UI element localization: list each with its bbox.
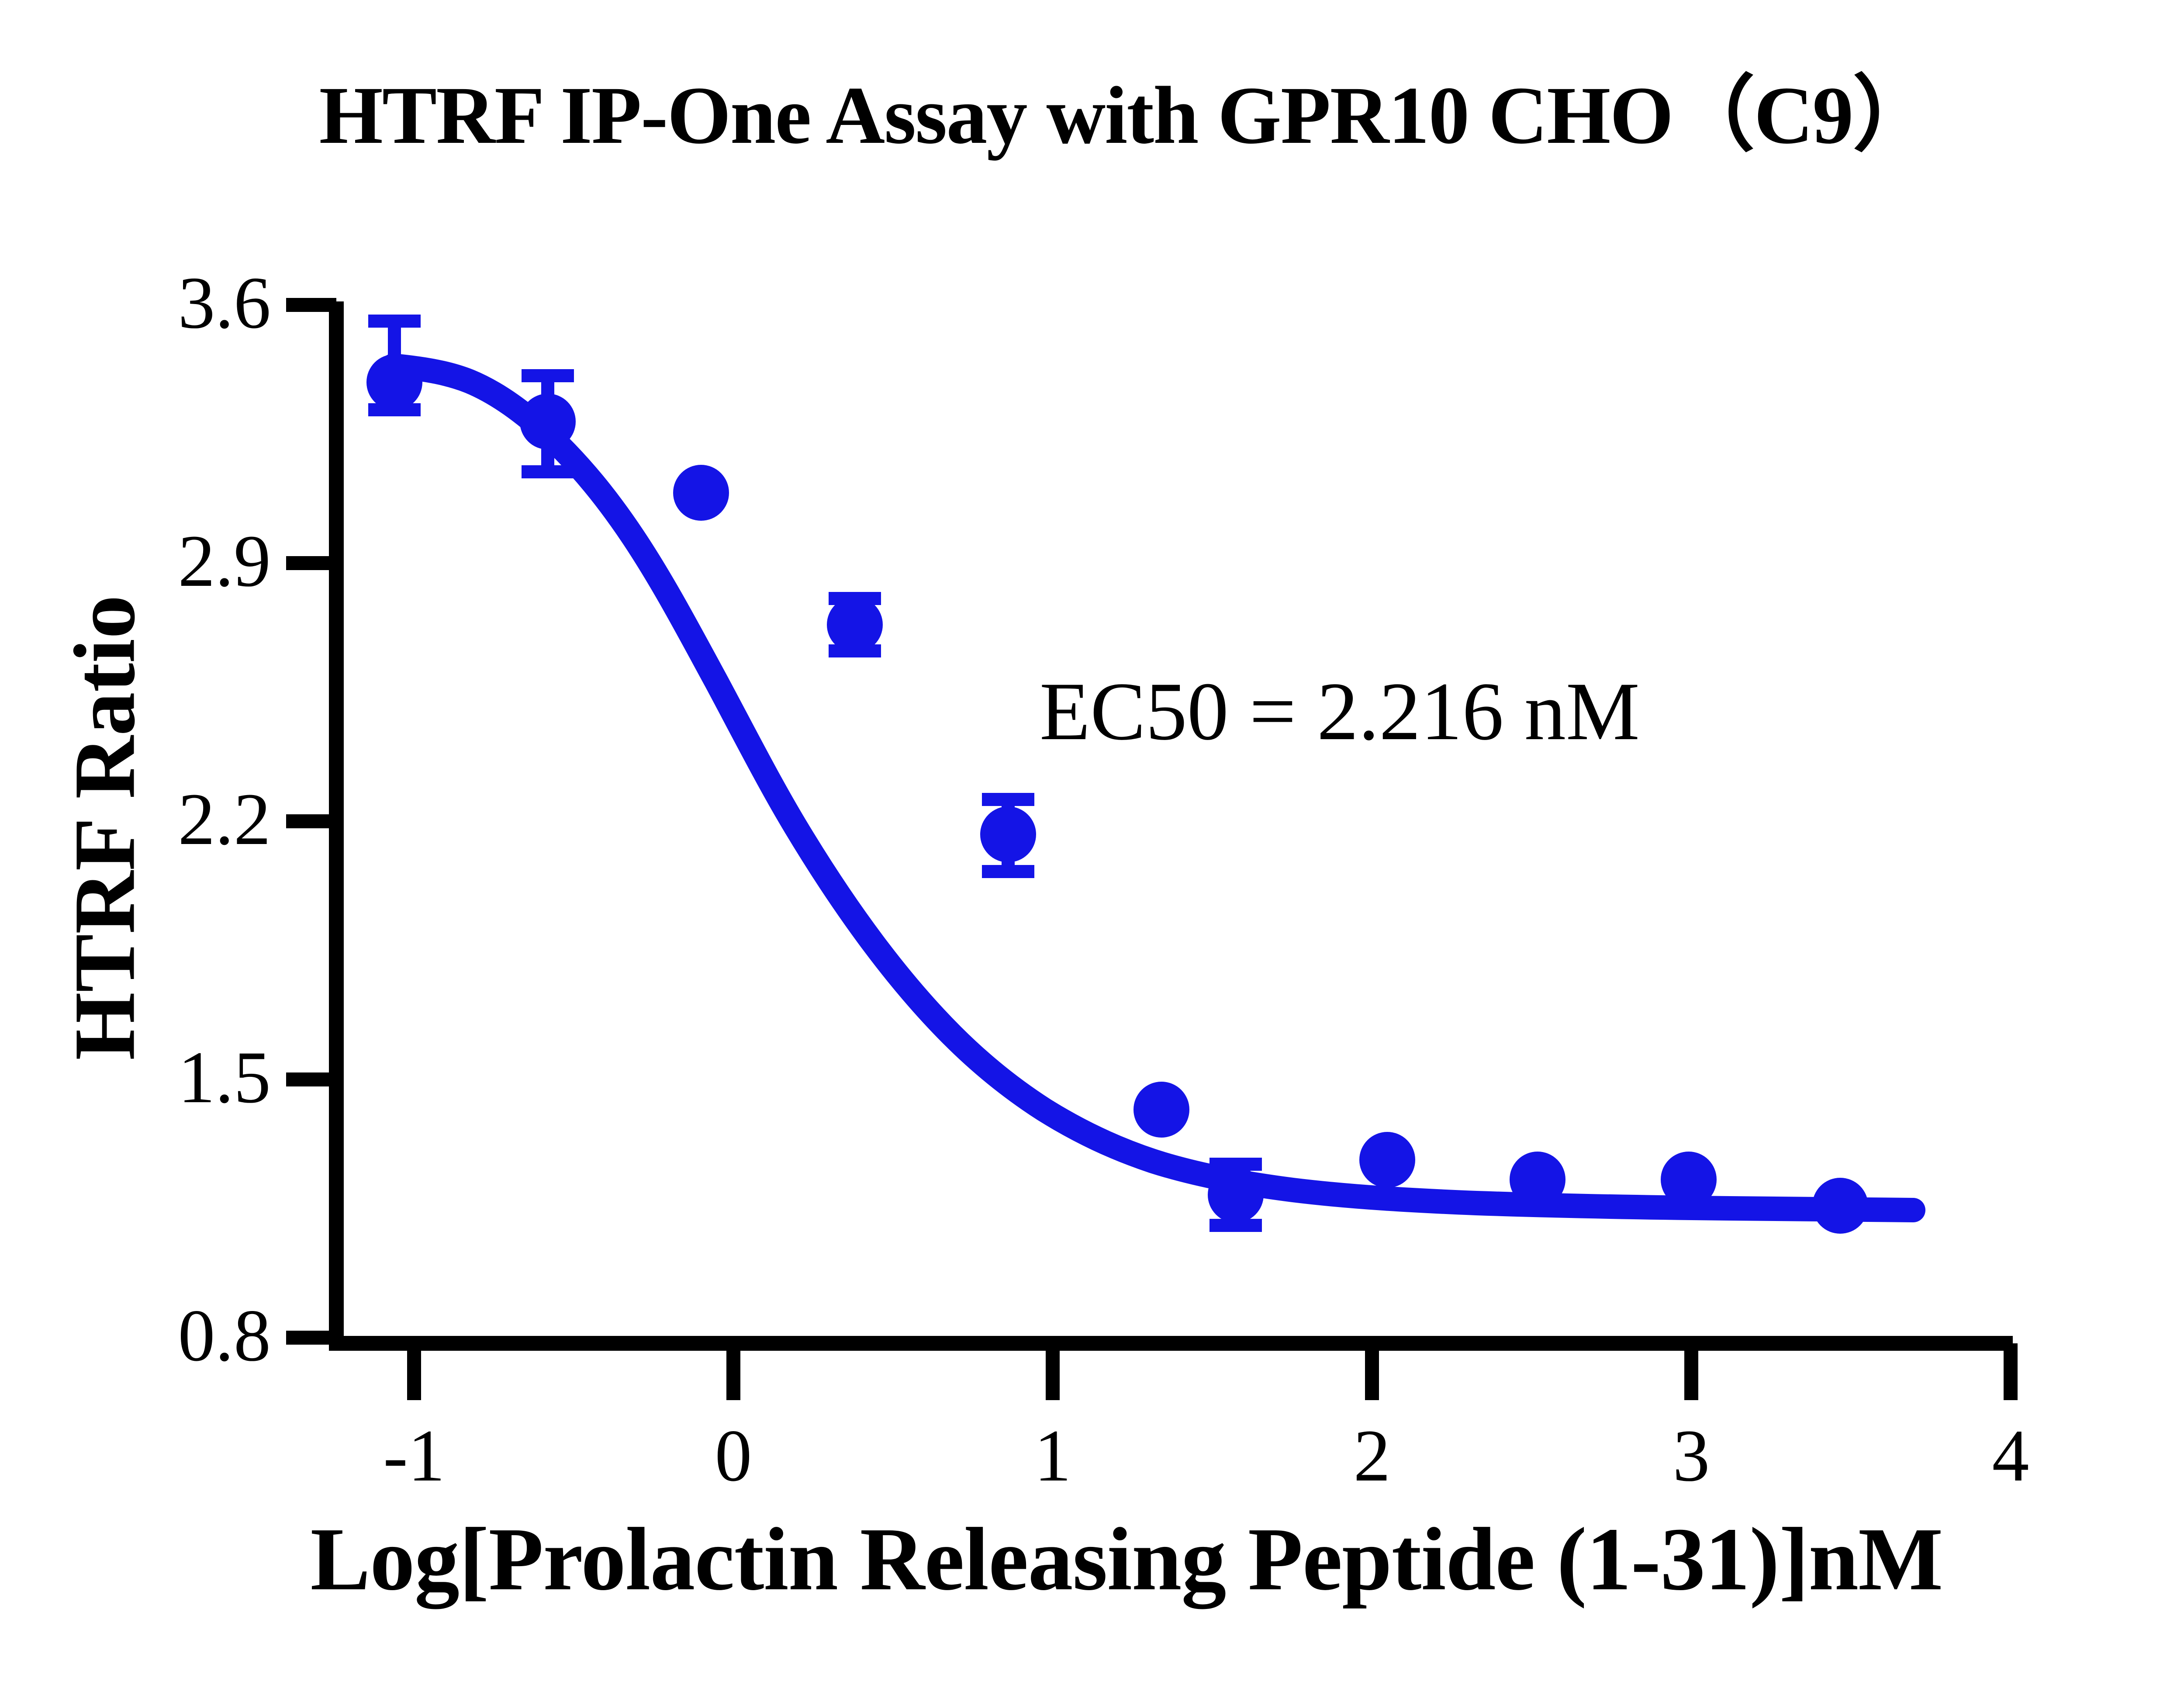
data-point — [827, 597, 883, 653]
data-point — [673, 465, 729, 521]
data-point — [980, 806, 1036, 862]
data-point — [1661, 1152, 1717, 1207]
y-axis-title: HTRF Ratio — [55, 478, 155, 1177]
y-axis-ticks — [286, 305, 336, 1338]
x-axis-title: Log[Prolactin Releasing Peptide (1-31)]n… — [0, 1507, 2184, 1611]
x-tick-label: 0 — [646, 1413, 821, 1498]
data-point — [366, 354, 422, 410]
x-tick-label: 4 — [1923, 1413, 2098, 1498]
data-point — [1510, 1152, 1565, 1207]
ec50-annotation: EC50 = 2.216 nM — [1040, 664, 1640, 759]
data-point — [520, 394, 576, 450]
x-tick-label: 1 — [965, 1413, 1140, 1498]
data-point — [1812, 1178, 1868, 1234]
data-point — [1359, 1132, 1415, 1188]
data-point — [1133, 1082, 1189, 1138]
y-tick-label: 0.8 — [96, 1293, 271, 1378]
error-bars — [368, 321, 1262, 1225]
plot-area: 3.6 2.9 2.2 1.5 0.8 -1 0 1 2 3 4 EC50 = … — [0, 0, 2184, 1702]
x-tick-label: 3 — [1604, 1413, 1779, 1498]
chart-root: HTRF IP-One Assay with GPR10 CHO（C9） — [0, 0, 2184, 1702]
x-tick-label: 2 — [1285, 1413, 1459, 1498]
x-tick-label: -1 — [327, 1413, 501, 1498]
y-tick-label: 3.6 — [96, 260, 271, 346]
x-axis-ticks — [414, 1343, 2011, 1400]
data-point — [1208, 1167, 1264, 1223]
